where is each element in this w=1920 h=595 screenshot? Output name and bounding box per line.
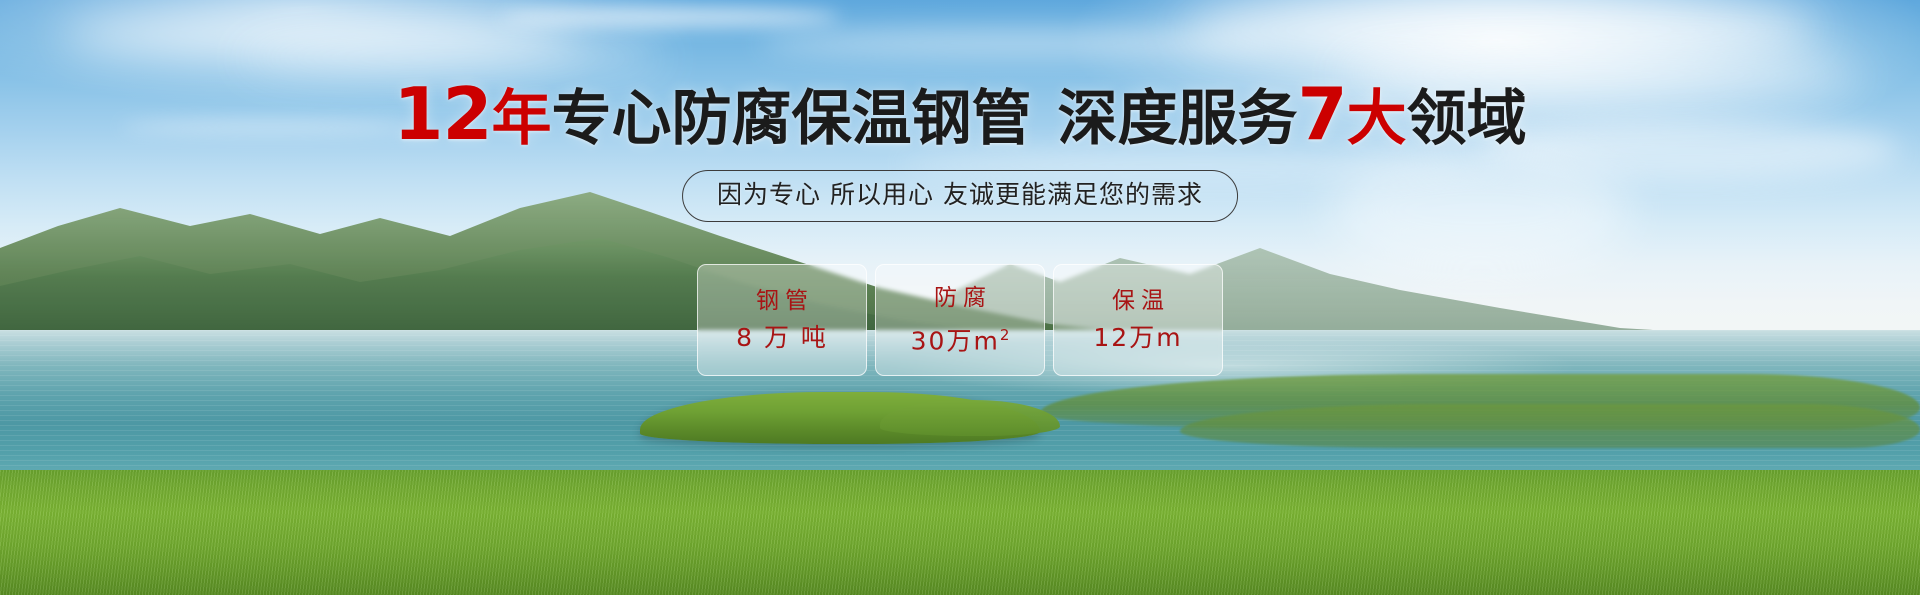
stat-card-steel-pipe[interactable]: 钢管 8 万 吨 <box>697 264 867 376</box>
foreground-grass <box>0 470 1920 595</box>
stat-card-label: 保温 <box>1106 289 1170 313</box>
stat-card-list: 钢管 8 万 吨 防腐 30万m2 保温 12万m <box>697 264 1223 376</box>
stat-card-label: 钢管 <box>750 289 814 313</box>
headline-main: 专心防腐保温钢管 <box>552 84 1032 154</box>
headline-fields-word: 领域 <box>1407 84 1527 154</box>
hero-banner: 12年专心防腐保温钢管深度服务7大领域 因为专心 所以用心 友诚更能满足您的需求… <box>0 0 1920 595</box>
subtitle-pill: 因为专心 所以用心 友诚更能满足您的需求 <box>682 170 1238 222</box>
stat-card-value: 8 万 吨 <box>736 325 828 351</box>
far-shoal-2 <box>1180 404 1920 448</box>
stat-card-value: 30万m2 <box>911 322 1010 354</box>
headline-fields-unit: 大 <box>1347 84 1407 154</box>
headline-years-number: 12 <box>393 72 491 156</box>
stat-card-anticorrosion[interactable]: 防腐 30万m2 <box>875 264 1045 376</box>
headline: 12年专心防腐保温钢管深度服务7大领域 <box>0 82 1920 151</box>
headline-years-unit: 年 <box>492 84 552 154</box>
stat-card-value-sup: 2 <box>1000 326 1010 344</box>
stat-card-insulation[interactable]: 保温 12万m <box>1053 264 1223 376</box>
stat-card-label: 防腐 <box>928 286 992 310</box>
headline-fields-number: 7 <box>1298 72 1347 156</box>
stat-card-value: 12万m <box>1093 325 1182 351</box>
subtitle-text: 因为专心 所以用心 友诚更能满足您的需求 <box>717 180 1203 209</box>
headline-service: 深度服务 <box>1058 84 1298 154</box>
